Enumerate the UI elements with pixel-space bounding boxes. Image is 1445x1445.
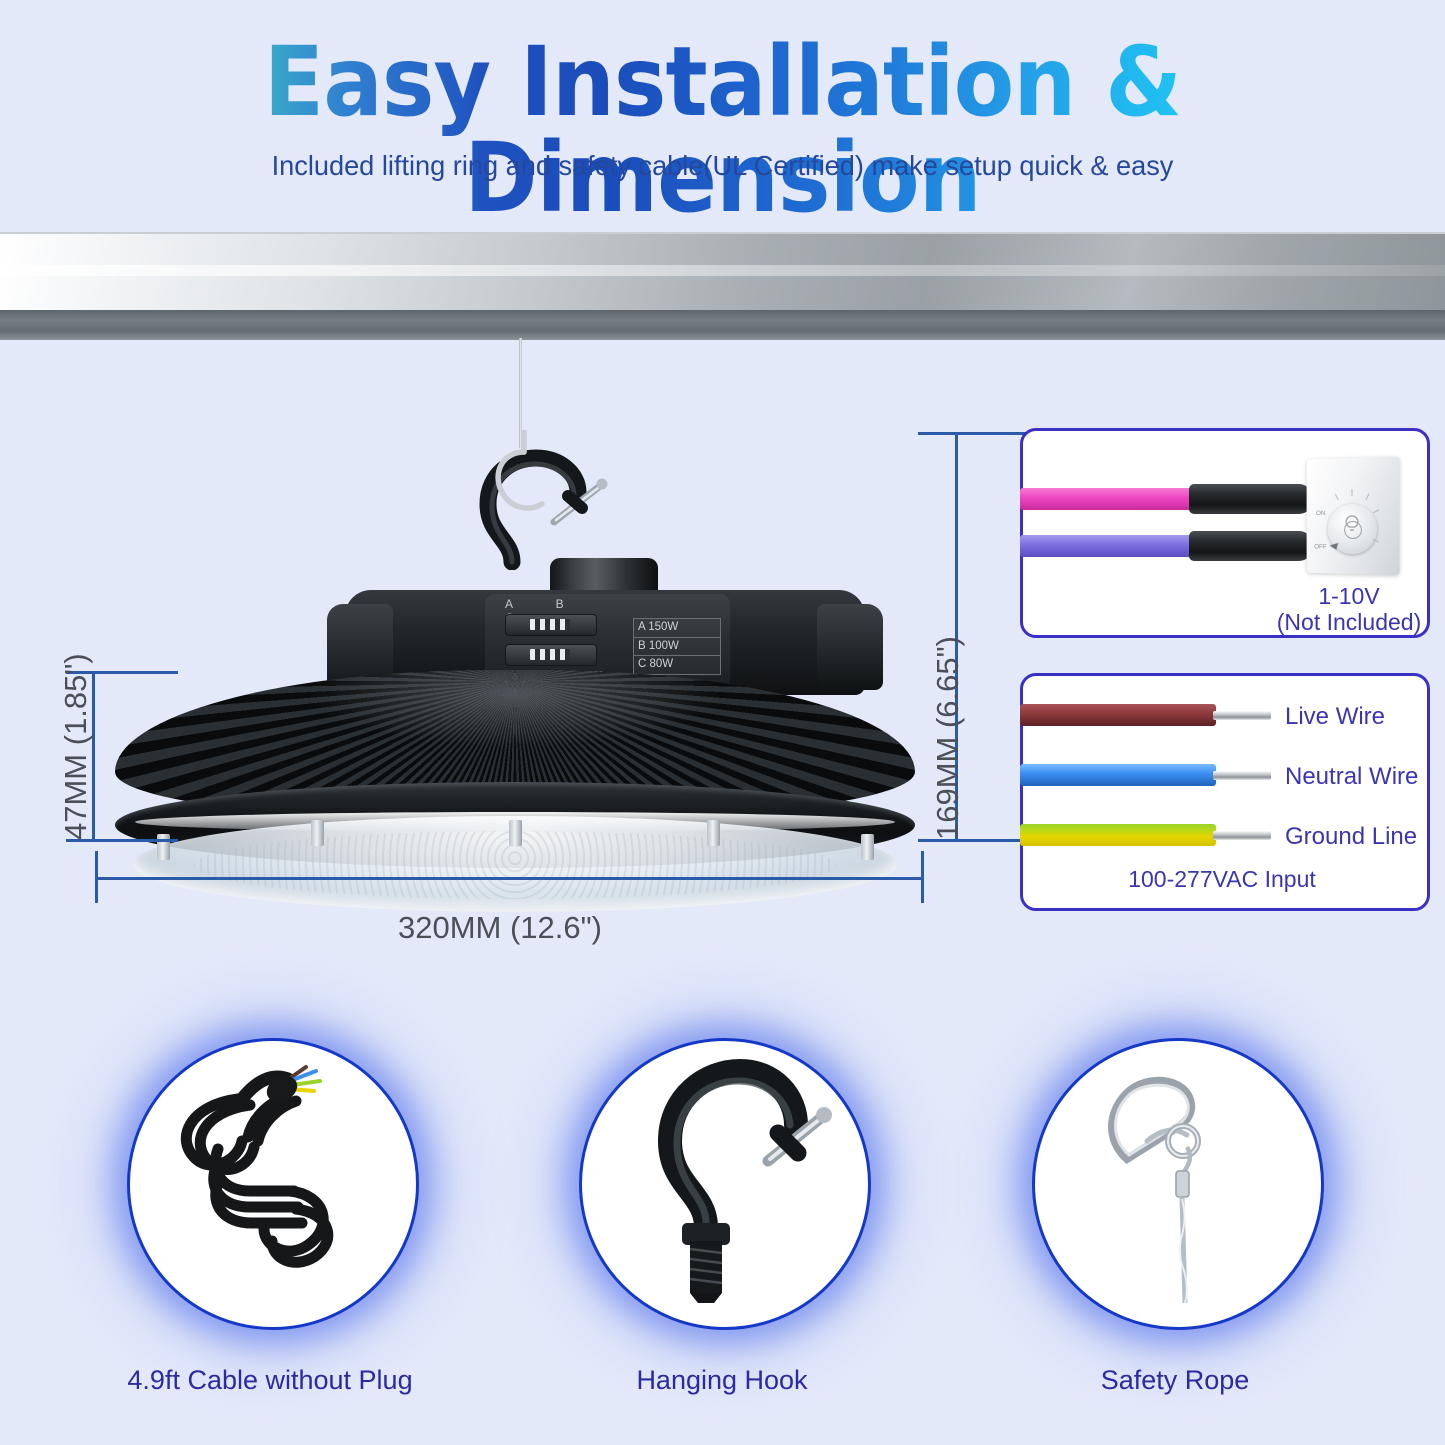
ground-wire-label: Ground Line xyxy=(1285,823,1417,851)
dip-switch-cct[interactable] xyxy=(505,644,597,666)
ac-input-wires-panel: Live Wire Neutral Wire Ground Line 100-2… xyxy=(1020,673,1430,911)
dip-switch-wattage[interactable] xyxy=(505,614,597,636)
lens-clip xyxy=(861,834,874,860)
dim-label-total-height: 169MM (6.65") xyxy=(930,636,966,840)
lens-clip xyxy=(311,820,324,846)
dimmer-caption-voltage: 1-10V xyxy=(1269,583,1429,610)
hanging-hook-icon xyxy=(582,1041,868,1327)
dim-tick-top-total xyxy=(918,432,1030,435)
lens-clip xyxy=(707,820,720,846)
lamp-body xyxy=(115,670,915,850)
dim-negative-wire xyxy=(1020,488,1195,510)
dim-positive-wire-cap xyxy=(1189,531,1313,561)
neutral-wire xyxy=(1020,764,1216,786)
feature-rope-circle xyxy=(1032,1038,1324,1330)
feature-rope-label: Safety Rope xyxy=(1010,1365,1340,1396)
wattage-row-b: B 100W xyxy=(633,637,721,656)
beam-face xyxy=(0,232,1445,312)
feature-rope: Safety Rope xyxy=(1010,1030,1340,1360)
live-wire-conductor xyxy=(1213,711,1271,720)
wattage-row-a: A 150W xyxy=(633,618,721,637)
wattage-table: A 150W B 100W C 80W xyxy=(633,618,721,675)
dim-positive-wire xyxy=(1020,535,1195,557)
lens-clip xyxy=(157,834,170,860)
ac-input-caption: 100-277VAC Input xyxy=(1023,866,1421,893)
dim-negative-wire-cap xyxy=(1189,484,1313,514)
neutral-wire-conductor xyxy=(1213,771,1271,780)
feature-hook-circle xyxy=(579,1038,871,1330)
ground-wire-conductor xyxy=(1213,831,1271,840)
feature-hook: Hanging Hook xyxy=(557,1030,887,1360)
live-wire-label: Live Wire xyxy=(1285,703,1385,731)
high-bay-light-product: A B C CW NW WW A 150W B 100W C 80W xyxy=(95,430,935,850)
feature-hook-label: Hanging Hook xyxy=(557,1365,887,1396)
beam-underside xyxy=(0,310,1445,340)
ceiling-beam xyxy=(0,232,1445,340)
live-wire xyxy=(1020,704,1216,726)
feature-cable: 4.9ft Cable without Plug xyxy=(105,1030,435,1360)
lifting-hook-icon xyxy=(450,430,630,570)
dimmer-caption-note: (Not Included) xyxy=(1249,609,1445,636)
infographic-root: Easy Installation & Dimension Included l… xyxy=(0,0,1445,1445)
page-title: Easy Installation & Dimension xyxy=(58,34,1387,226)
ground-wire xyxy=(1020,824,1216,846)
dim-tick-right xyxy=(921,851,924,903)
page-subtitle: Included lifting ring and safety cable(U… xyxy=(22,150,1424,182)
header: Easy Installation & Dimension Included l… xyxy=(0,0,1445,225)
lens-clip xyxy=(509,820,522,846)
neutral-wire-label: Neutral Wire xyxy=(1285,763,1418,791)
dim-tick-left xyxy=(95,851,98,903)
dim-label-width: 320MM (12.6") xyxy=(398,910,602,946)
dim-label-fixture-height: 47MM (1.85") xyxy=(58,653,94,840)
feature-cable-circle xyxy=(127,1038,419,1330)
dimming-wires-panel: DIM- DIM+ ON OFF 1-10V (Not Included) xyxy=(1020,428,1430,638)
safety-rope-carabiner-icon xyxy=(1035,1041,1321,1327)
dimmer-switch-icon: ON OFF xyxy=(1307,457,1400,576)
feature-cable-label: 4.9ft Cable without Plug xyxy=(105,1365,435,1396)
dim-line-width xyxy=(96,877,924,880)
coiled-cable-icon xyxy=(130,1041,416,1327)
